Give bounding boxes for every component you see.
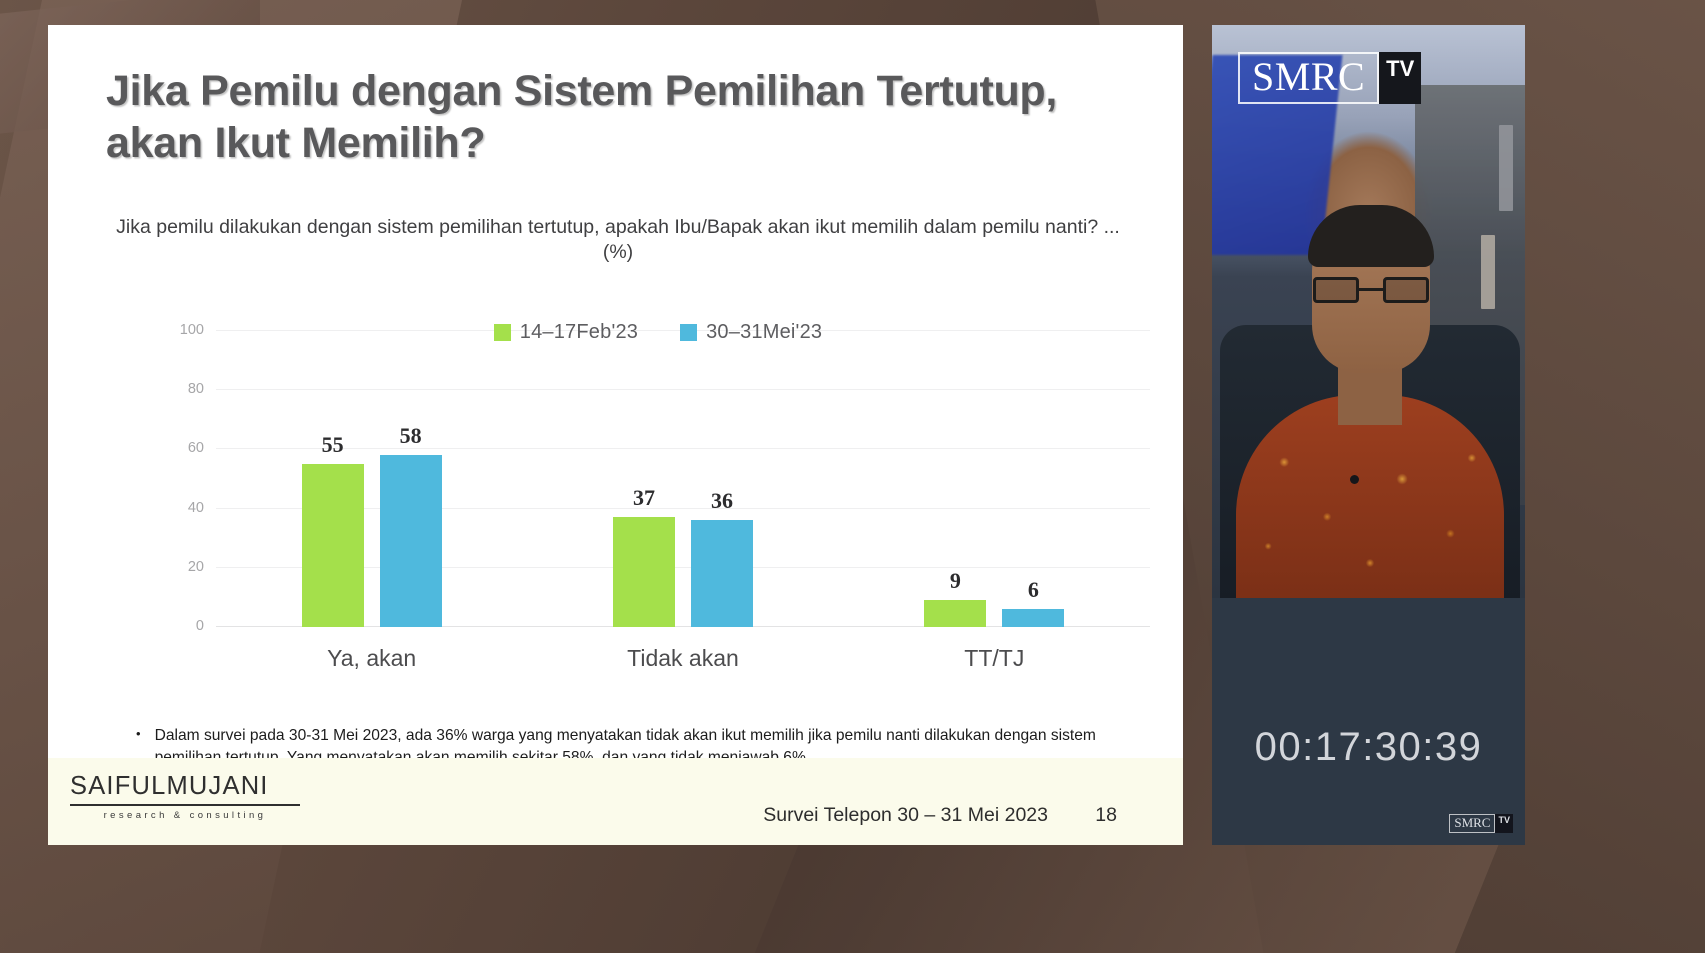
slide-title: Jika Pemilu dengan Sistem Pemilihan Tert… xyxy=(106,65,1086,170)
stream-timer: 00:17:30:39 xyxy=(1212,725,1525,770)
bar-value-label: 36 xyxy=(691,488,753,514)
bar[interactable] xyxy=(691,520,753,627)
legend-item[interactable]: 14–17Feb'23 xyxy=(494,321,638,344)
bar[interactable] xyxy=(380,455,442,627)
smrc-tv-logo: SMRC TV xyxy=(1238,52,1421,104)
chart-bar-groups: 5558Ya, akan3736Tidak akan96TT/TJ xyxy=(216,331,1150,627)
survey-note: Survei Telepon 30 – 31 Mei 2023 xyxy=(763,804,1048,827)
video-lower-panel xyxy=(1212,598,1525,845)
eyeglass-lens-left xyxy=(1313,277,1359,303)
slide-subtitle: Jika pemilu dilakukan dengan sistem pemi… xyxy=(108,215,1128,266)
x-axis-category-label: Ya, akan xyxy=(216,645,527,672)
bar-group: 5558Ya, akan xyxy=(216,331,527,627)
bookshelf-book xyxy=(1481,235,1495,309)
saifulmujani-logo: SAIFULMUJANI research & consulting xyxy=(70,772,300,821)
watermark-suffix: TV xyxy=(1495,814,1513,833)
bar-column[interactable]: 37 xyxy=(613,331,675,627)
video-panel: SMRC TV 00:17:30:39 SMRC TV xyxy=(1212,25,1525,845)
y-axis-tick-label: 80 xyxy=(188,381,204,397)
batik-pattern xyxy=(1236,395,1504,605)
bar-value-label: 58 xyxy=(380,423,442,449)
slide-footer: SAIFULMUJANI research & consulting Surve… xyxy=(48,758,1183,845)
logo-name: SAIFULMUJANI xyxy=(70,772,300,801)
bar[interactable] xyxy=(924,600,986,627)
presentation-slide: Jika Pemilu dengan Sistem Pemilihan Tert… xyxy=(48,25,1183,845)
bar-column[interactable]: 6 xyxy=(1002,331,1064,627)
bookshelf-book xyxy=(1499,125,1513,211)
bar-group: 96TT/TJ xyxy=(839,331,1150,627)
screen-background: Jika Pemilu dengan Sistem Pemilihan Tert… xyxy=(0,0,1705,953)
bar-value-label: 55 xyxy=(302,432,364,458)
eyeglass-bridge xyxy=(1359,288,1383,291)
bar-column[interactable]: 9 xyxy=(924,331,986,627)
y-axis-tick-label: 0 xyxy=(196,618,204,634)
watermark-brand: SMRC xyxy=(1449,814,1495,833)
bar-column[interactable]: 58 xyxy=(380,331,442,627)
legend-swatch-icon xyxy=(680,324,697,341)
smrc-tv-watermark: SMRC TV xyxy=(1449,814,1513,833)
y-axis-tick-label: 20 xyxy=(188,559,204,575)
bar[interactable] xyxy=(613,517,675,627)
legend-label: 30–31Mei'23 xyxy=(706,321,822,344)
legend-swatch-icon xyxy=(494,324,511,341)
bar-chart: 14–17Feb'2330–31Mei'23 5558Ya, akan3736T… xyxy=(148,303,1168,673)
bar-value-label: 6 xyxy=(1002,577,1064,603)
bar[interactable] xyxy=(1002,609,1064,627)
smrc-logo-suffix: TV xyxy=(1379,52,1421,104)
x-axis-category-label: TT/TJ xyxy=(839,645,1150,672)
smrc-logo-brand: SMRC xyxy=(1238,52,1379,104)
logo-divider xyxy=(70,804,300,806)
bar-group: 3736Tidak akan xyxy=(527,331,838,627)
eyeglasses-icon xyxy=(1313,277,1429,303)
chart-legend: 14–17Feb'2330–31Mei'23 xyxy=(148,321,1168,344)
bar-column[interactable]: 36 xyxy=(691,331,753,627)
bar-column[interactable]: 55 xyxy=(302,331,364,627)
clip-microphone xyxy=(1350,475,1359,484)
background-facet-bottom xyxy=(720,840,1501,953)
speaker-torso xyxy=(1236,395,1504,605)
bar-value-label: 37 xyxy=(613,485,675,511)
speaker-video-frame xyxy=(1212,25,1525,598)
page-number: 18 xyxy=(1095,804,1117,827)
legend-item[interactable]: 30–31Mei'23 xyxy=(680,321,822,344)
legend-label: 14–17Feb'23 xyxy=(520,321,638,344)
bar-value-label: 9 xyxy=(924,568,986,594)
logo-tagline: research & consulting xyxy=(70,810,300,821)
chart-plot-area: 5558Ya, akan3736Tidak akan96TT/TJ 020406… xyxy=(216,331,1150,627)
y-axis-tick-label: 40 xyxy=(188,500,204,516)
bar[interactable] xyxy=(302,464,364,627)
y-axis-tick-label: 60 xyxy=(188,440,204,456)
eyeglass-lens-right xyxy=(1383,277,1429,303)
x-axis-category-label: Tidak akan xyxy=(527,645,838,672)
